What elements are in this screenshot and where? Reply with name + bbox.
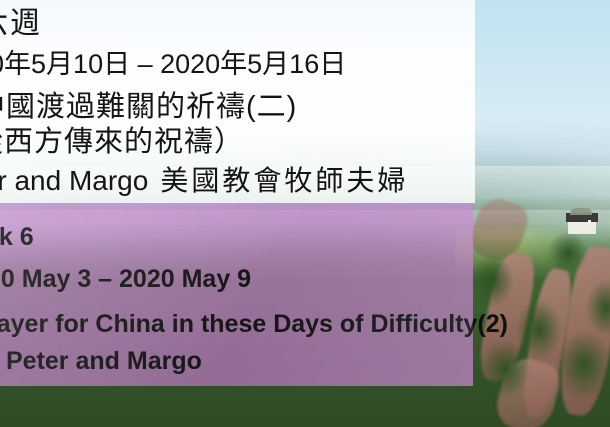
english-speakers: Peter and Margo	[6, 347, 202, 376]
english-title: rayer for China in these Days of Difficu…	[0, 310, 508, 339]
hilltop-building	[566, 208, 600, 234]
english-date-range: 20 May 3 – 2020 May 9	[0, 265, 251, 294]
english-caption-panel: ek 6 20 May 3 – 2020 May 9 rayer for Chi…	[0, 203, 473, 386]
speakers-chinese-role: 美國教會牧師夫婦	[160, 165, 408, 196]
tree-cluster	[470, 255, 514, 307]
tree-cluster	[586, 280, 610, 336]
tree-cluster	[548, 232, 588, 274]
tree-cluster	[556, 330, 610, 400]
chinese-date-range: 20年5月10日 – 2020年5月16日	[0, 42, 346, 81]
building-eave	[570, 208, 592, 215]
chinese-speakers-line: ter and Margo美國教會牧師夫婦	[0, 159, 408, 199]
chinese-caption-text: 六週 20年5月10日 – 2020年5月16日 中國渡過難關的祈禱(二) 從西…	[0, 0, 475, 203]
chinese-prayer-subtitle: 從西方傳來的祝禱）	[0, 118, 244, 160]
video-slide: 六週 20年5月10日 – 2020年5月16日 中國渡過難關的祈禱(二) 從西…	[0, 0, 610, 427]
chinese-caption-panel: 六週 20年5月10日 – 2020年5月16日 中國渡過難關的祈禱(二) 從西…	[0, 0, 475, 203]
chinese-week-title: 六週	[0, 0, 42, 42]
speakers-latin-name: ter and Margo	[0, 165, 148, 196]
building-post	[588, 220, 591, 234]
english-week-label: ek 6	[0, 223, 34, 252]
english-caption-text: ek 6 20 May 3 – 2020 May 9 rayer for Chi…	[0, 203, 473, 386]
tree-cluster	[480, 340, 530, 398]
